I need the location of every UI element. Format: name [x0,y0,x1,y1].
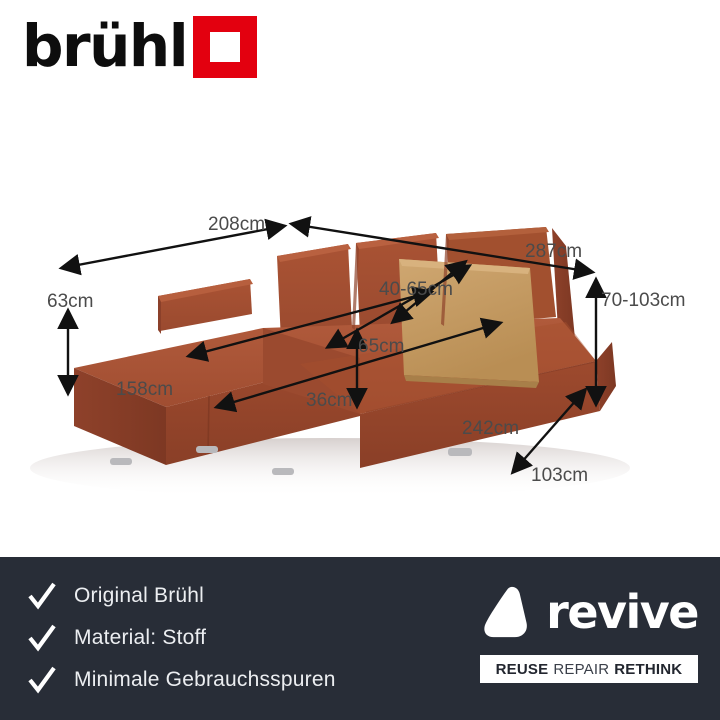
feature-label: Material: Stoff [74,626,206,650]
bruhl-square-inner [210,32,240,62]
brand-wordmark: brühl [22,17,193,75]
revive-leaf-mark-icon [480,583,536,641]
product-listing-image: brühl [0,0,720,720]
feature-label: Original Brühl [74,584,204,608]
dim-label-total-width-right: 287cm [525,241,582,263]
dim-label-back-height-left: 63cm [47,291,93,313]
badge-word-reuse: REUSE [496,661,549,678]
check-icon [28,623,56,653]
revive-badge: REUSE REPAIR RETHINK [480,655,698,683]
dim-label-seat-width: 242cm [462,418,519,440]
dim-label-seat-height: 36cm [306,390,352,412]
dim-label-sofa-depth: 103cm [531,465,588,487]
feature-item: Material: Stoff [28,621,336,655]
footer-bar: Original Brühl Material: Stoff Minimale … [0,557,720,720]
corner-sofa-illustration [0,96,720,557]
revive-logo: revive REUSE REPAIR RETHINK [480,581,698,683]
badge-word-repair: REPAIR [553,661,609,678]
badge-word-rethink: RETHINK [614,661,682,678]
feature-item: Minimale Gebrauchsspuren [28,663,336,697]
feature-label: Minimale Gebrauchsspuren [74,668,336,692]
bruhl-square-logo-icon [193,16,257,78]
revive-wordmark: revive [546,589,698,635]
product-image-stage: 208cm 287cm 63cm 70-103cm 40-65cm 65cm 1… [0,96,720,557]
feature-item: Original Brühl [28,579,336,613]
dim-label-back-height-right: 70-103cm [601,290,686,312]
dim-label-chaise-depth: 158cm [116,379,173,401]
dim-label-total-width-left: 208cm [208,214,265,236]
check-icon [28,581,56,611]
brand-logo: brühl [22,14,257,78]
feature-list: Original Brühl Material: Stoff Minimale … [28,579,336,697]
dim-label-backrest-depth: 40-65cm [379,279,453,301]
check-icon [28,665,56,695]
revive-logo-row: revive [480,581,698,643]
dim-label-seat-depth: 65cm [358,336,404,358]
